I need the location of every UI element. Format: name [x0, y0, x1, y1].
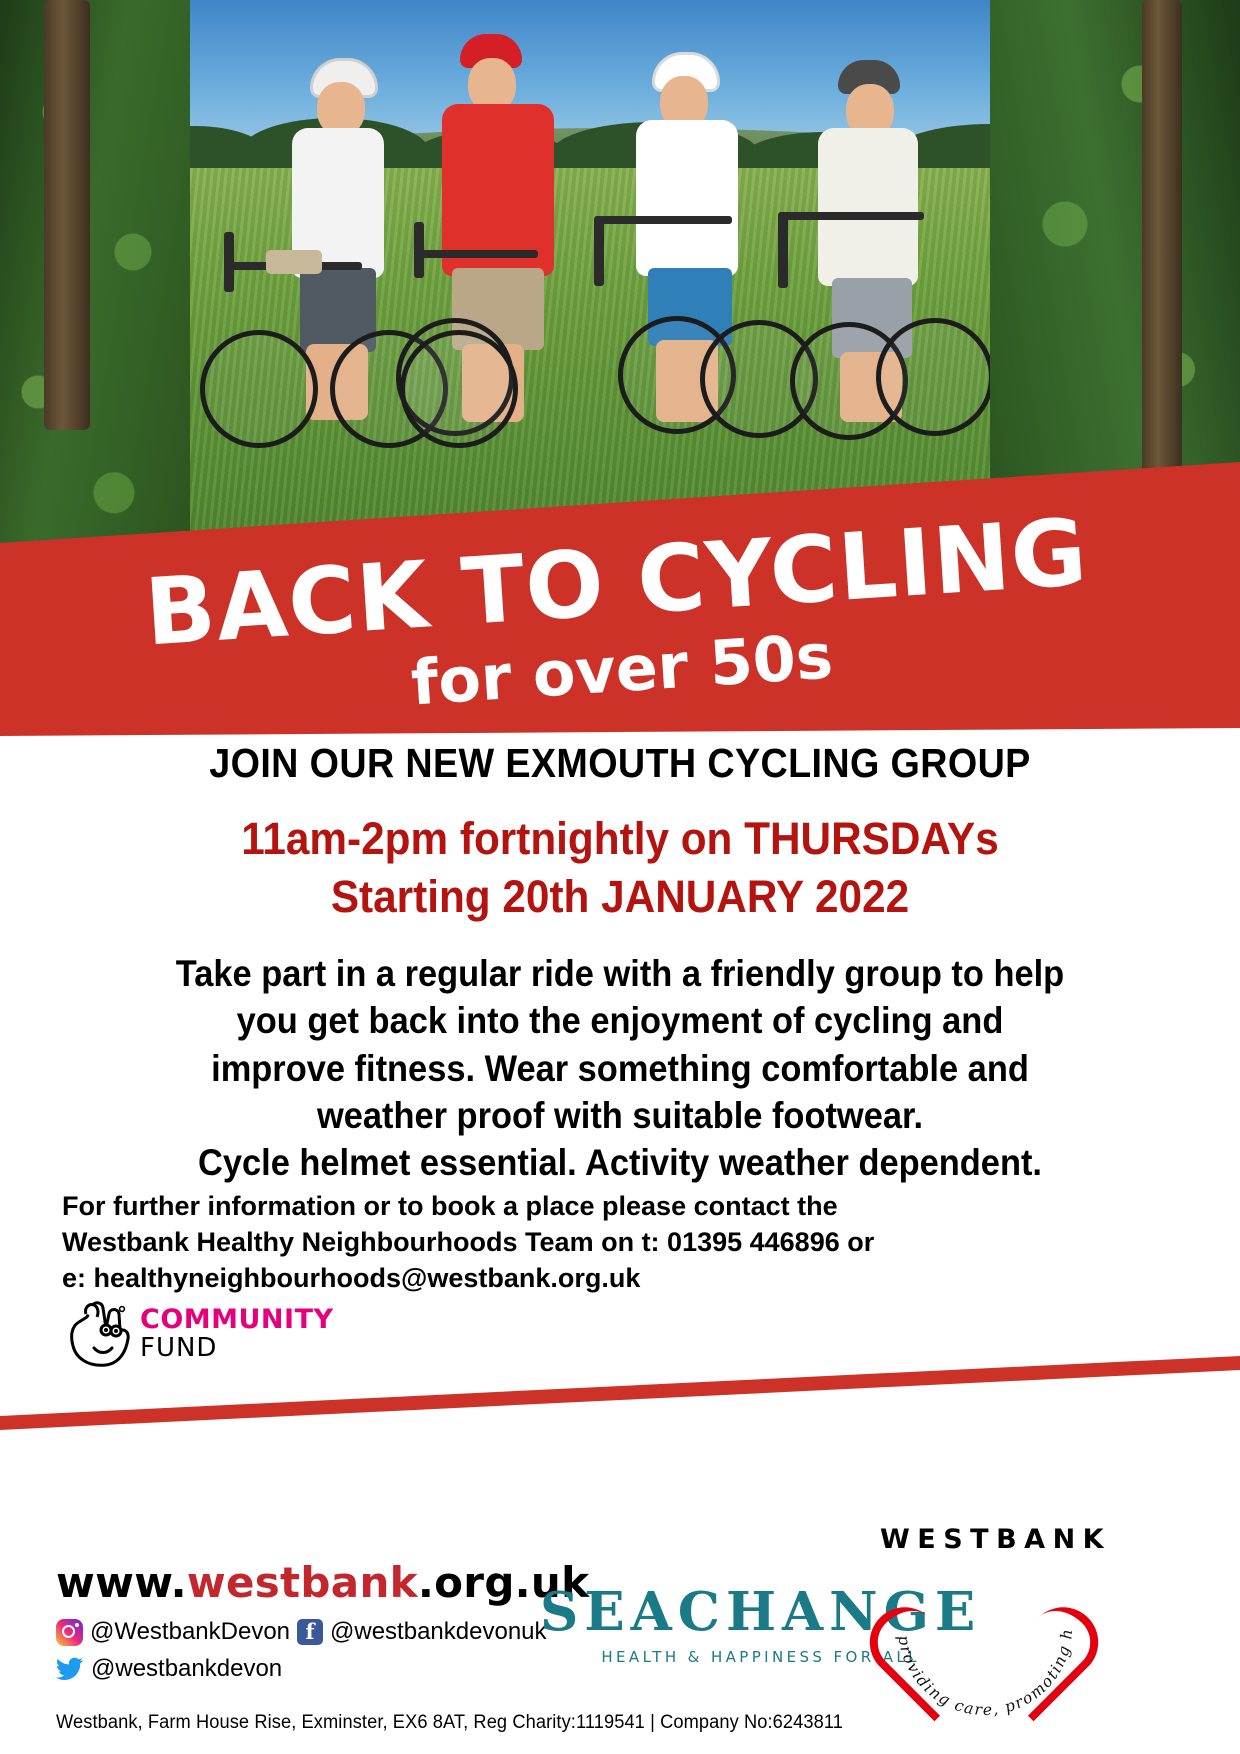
community-fund-word-2: FUND: [140, 1335, 334, 1361]
instagram-icon[interactable]: [56, 1619, 83, 1646]
description-line-5: Cycle helmet essential. Activity weather…: [99, 1139, 1141, 1186]
community-fund-word-1: COMMUNITY: [140, 1306, 334, 1333]
page-headline: JOIN OUR NEW EXMOUTH CYCLING GROUP: [50, 740, 1191, 787]
contact-line-3[interactable]: e: healthyneighbourhoods@westbank.org.uk: [62, 1260, 1062, 1296]
schedule-line-2: Starting 20th JANUARY 2022: [37, 868, 1203, 926]
westbank-tagline-text: providing care, promoting health: [880, 1524, 1076, 1719]
description-line-2: you get back into the enjoyment of cycli…: [99, 997, 1141, 1044]
description-line-3: improve fitness. Wear something comforta…: [99, 1045, 1141, 1092]
svg-text:providing care, promoting heal: providing care, promoting health: [880, 1524, 1076, 1719]
contact-block: For further information or to book a pla…: [62, 1188, 1062, 1297]
legal-text: Westbank, Farm House Rise, Exminster, EX…: [56, 1712, 843, 1734]
facebook-handle[interactable]: @westbankdevonuk: [330, 1618, 547, 1646]
description-line-4: weather proof with suitable footwear.: [99, 1092, 1141, 1139]
social-row-1: @WestbankDevon f @westbankdevonuk: [56, 1618, 547, 1646]
left-hedge: [0, 0, 190, 560]
description-line-1: Take part in a regular ride with a frien…: [99, 950, 1141, 997]
social-row-2: @westbankdevon: [56, 1655, 547, 1683]
westbank-tagline-arc: providing care, promoting health: [880, 1524, 1090, 1734]
schedule-block: 11am-2pm fortnightly on THURSDAYs Starti…: [37, 810, 1203, 925]
contact-line-2: Westbank Healthy Neighbourhoods Team on …: [62, 1224, 1062, 1260]
website-url[interactable]: www.westbank.org.uk: [56, 1558, 589, 1607]
tree-trunk-right: [1142, 0, 1182, 480]
westbank-logo: WESTBANK providing care, promoting healt…: [880, 1524, 1090, 1734]
instagram-handle[interactable]: @WestbankDevon: [90, 1618, 290, 1646]
twitter-handle[interactable]: @westbankdevon: [91, 1655, 282, 1683]
tree-trunk-left: [44, 0, 90, 430]
url-prefix: www.: [56, 1558, 187, 1607]
facebook-icon[interactable]: f: [297, 1619, 323, 1645]
description-block: Take part in a regular ride with a frien…: [99, 950, 1141, 1187]
url-brand: westbank: [187, 1558, 418, 1607]
contact-line-1: For further information or to book a pla…: [62, 1188, 1062, 1224]
crossed-fingers-hand-icon: [62, 1300, 136, 1372]
community-fund-logo: COMMUNITY FUND: [62, 1300, 332, 1372]
twitter-icon[interactable]: [56, 1657, 84, 1681]
social-links: @WestbankDevon f @westbankdevonuk @westb…: [56, 1618, 547, 1692]
schedule-line-1: 11am-2pm fortnightly on THURSDAYs: [37, 810, 1203, 868]
